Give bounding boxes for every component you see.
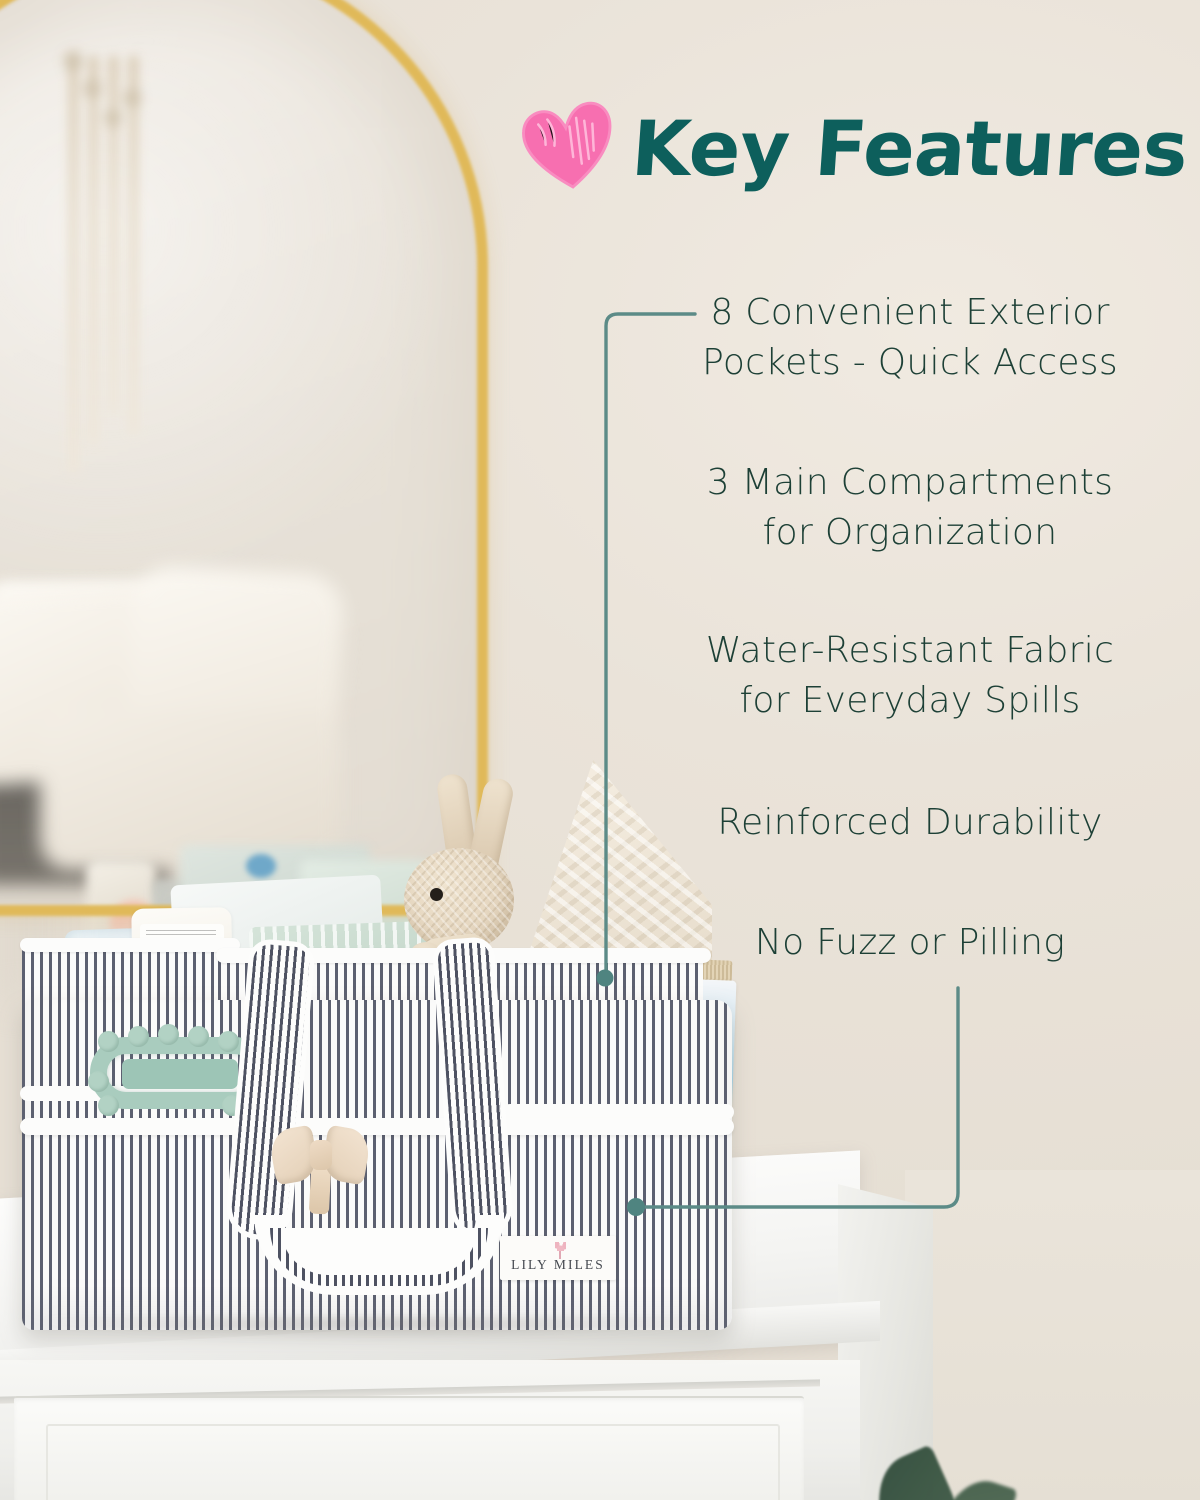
feature-no-fuzz: No Fuzz or Pilling bbox=[660, 918, 1160, 968]
feature-durability-line1: Reinforced Durability bbox=[660, 798, 1160, 848]
feature-no-fuzz-line1: No Fuzz or Pilling bbox=[660, 918, 1160, 968]
feature-water-resistant: Water-Resistant Fabric for Everyday Spil… bbox=[660, 626, 1160, 725]
infographic-canvas: LILY MILES Key Features bbox=[0, 0, 1200, 1500]
feature-durability: Reinforced Durability bbox=[660, 798, 1160, 848]
page-title: Key Features bbox=[629, 104, 1191, 193]
connector-dot-upper bbox=[597, 970, 614, 987]
feature-water-resistant-line1: Water-Resistant Fabric bbox=[660, 626, 1160, 676]
feature-pockets-line2: Pockets - Quick Access bbox=[660, 338, 1160, 388]
connector-line-lower bbox=[646, 988, 958, 1207]
connector-dot-lower bbox=[627, 1198, 645, 1216]
graphics-overlay: Key Features 8 Convenient Exterior Pocke… bbox=[0, 0, 1200, 1500]
feature-water-resistant-line2: for Everyday Spills bbox=[660, 676, 1160, 726]
feature-pockets-line1: 8 Convenient Exterior bbox=[660, 288, 1160, 338]
feature-compartments-line2: for Organization bbox=[660, 508, 1160, 558]
callout-connectors bbox=[0, 0, 1200, 1500]
heart-icon bbox=[514, 92, 623, 199]
feature-compartments: 3 Main Compartments for Organization bbox=[660, 458, 1160, 557]
feature-compartments-line1: 3 Main Compartments bbox=[660, 458, 1160, 508]
feature-pockets: 8 Convenient Exterior Pockets - Quick Ac… bbox=[660, 288, 1160, 387]
